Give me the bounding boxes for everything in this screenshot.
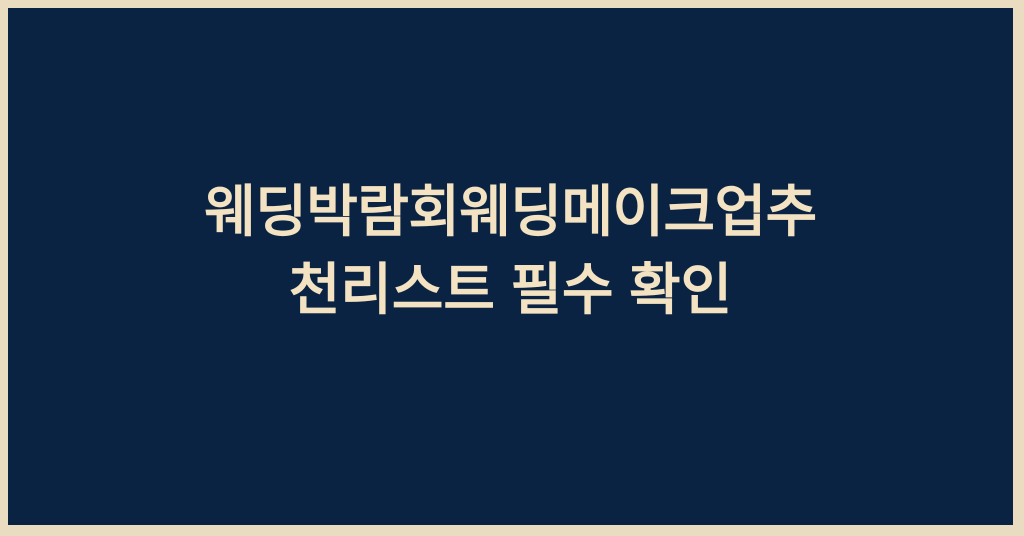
thumbnail-canvas: 웨딩박람회웨딩메이크업추 천리스트 필수 확인	[8, 8, 1013, 525]
thumbnail-card: 웨딩박람회웨딩메이크업추 천리스트 필수 확인	[0, 0, 1024, 536]
headline-line-2: 천리스트 필수 확인	[36, 251, 985, 329]
headline-block: 웨딩박람회웨딩메이크업추 천리스트 필수 확인	[8, 173, 1013, 329]
headline-line-1: 웨딩박람회웨딩메이크업추	[36, 173, 985, 251]
